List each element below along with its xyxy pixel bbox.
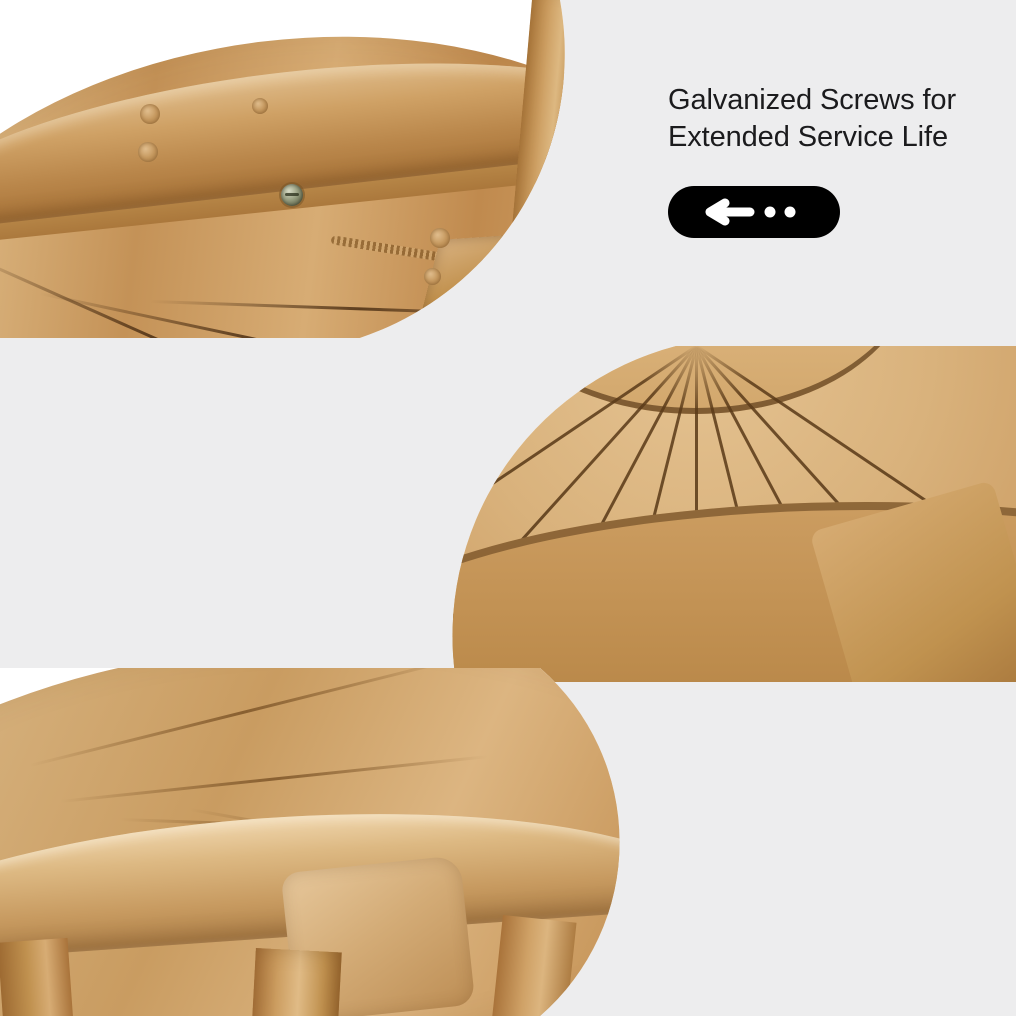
- dowel-plug: [424, 268, 441, 285]
- galvanized-screw: [281, 184, 303, 206]
- dowel-plug: [430, 228, 450, 248]
- table-leg: [579, 0, 620, 183]
- wood-illustration: [0, 0, 620, 338]
- feature-panel-slatted-surface: Slatted Surface for Effective Drainage: [0, 346, 1016, 682]
- infographic-canvas: Galvanized Screws for Extended Service L…: [0, 0, 1016, 1016]
- fan-slat-surface: [376, 346, 1016, 682]
- dowel-plug: [252, 98, 268, 114]
- galvanized-screws-photo: [0, 0, 620, 338]
- wood-illustration: [376, 346, 1016, 682]
- feature-text-galvanized-screws: Galvanized Screws for Extended Service L…: [668, 82, 998, 238]
- feature-panel-rounded-corners: Rounded Corners Protect You from bumps: [0, 668, 1016, 1016]
- dowel-plug: [140, 104, 160, 124]
- arrow-left-with-dots-icon: [694, 197, 814, 227]
- feature-heading: Galvanized Screws for Extended Service L…: [668, 82, 998, 156]
- rounded-corners-photo: [0, 668, 630, 1016]
- table-leg: [240, 948, 342, 1016]
- arrow-pill-left[interactable]: [668, 186, 840, 238]
- slatted-surface-photo: [376, 346, 1016, 682]
- wood-illustration: [0, 668, 630, 1016]
- dowel-plug: [138, 142, 158, 162]
- feature-panel-galvanized-screws: Galvanized Screws for Extended Service L…: [0, 0, 1016, 338]
